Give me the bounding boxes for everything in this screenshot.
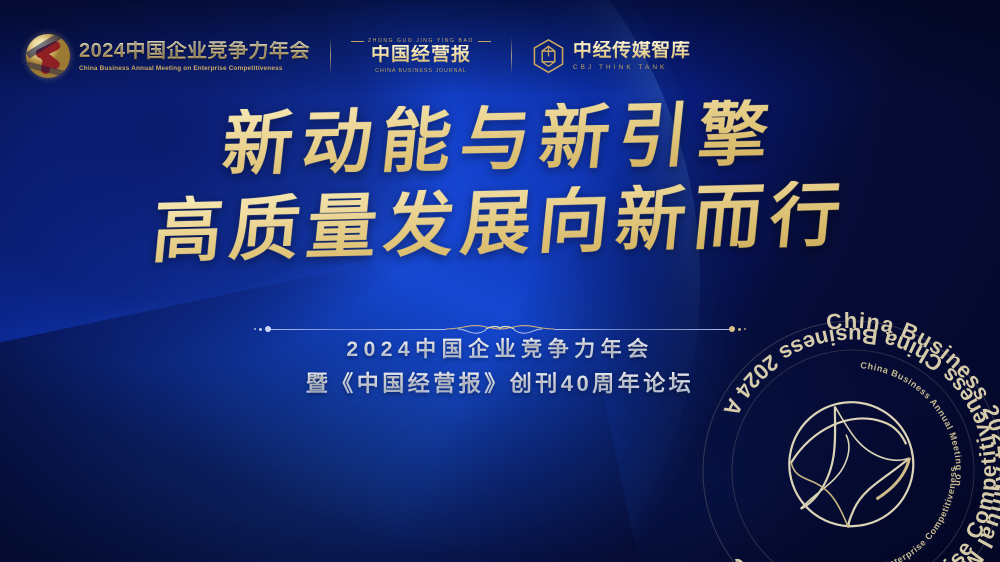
logo-think-tank-en: CBJ THINK TANK <box>573 64 691 71</box>
hexagon-cube-icon <box>532 38 565 74</box>
logo-cbj-en: CHINA BUSINESS JOURNAL <box>375 68 467 74</box>
logo-annual-meeting-en: China Business Annual Meeting on Enterpr… <box>79 65 310 72</box>
divider-ornament-icon <box>440 322 560 336</box>
gold-sphere-pinwheel-icon <box>26 34 70 78</box>
logo-annual-meeting: 2024中国企业竞争力年会 China Business Annual Meet… <box>26 34 310 78</box>
logo-think-tank-cn: 中经传媒智库 <box>573 41 691 62</box>
divider-line-right <box>554 329 729 330</box>
main-title-line-2: 高质量发展向新而行 <box>0 176 1000 270</box>
main-title: 新动能与新引擎 高质量发展向新而行 <box>0 104 1000 258</box>
logo-cbj-think-tank: 中经传媒智库 CBJ THINK TANK <box>532 38 691 74</box>
logo-cbj-rule-right <box>478 41 491 42</box>
divider-line-left <box>271 329 446 330</box>
main-title-line-1: 新动能与新引擎 <box>0 94 1000 183</box>
logo-china-business-journal: ZHONG GUO JING YING BAO 中国经营报 CHINA BUSI… <box>351 38 491 74</box>
poster-canvas: 2024中国企业竞争力年会 China Business Annual Meet… <box>0 0 1000 562</box>
logo-divider-2 <box>511 37 512 75</box>
logo-cbj-cn: 中国经营报 <box>371 45 471 66</box>
sphere-pinwheel-outline-icon <box>776 389 926 539</box>
logo-cbj-rule-left <box>351 41 364 42</box>
header-logo-row: 2024中国企业竞争力年会 China Business Annual Meet… <box>26 26 691 86</box>
decorative-divider <box>254 321 746 337</box>
logo-divider-1 <box>330 37 331 75</box>
watermark-outer-text-2: Enterprise Competitiveness China Busines… <box>705 291 1000 562</box>
logo-annual-meeting-cn: 2024中国企业竞争力年会 <box>79 41 310 62</box>
divider-dots-left <box>254 326 271 332</box>
